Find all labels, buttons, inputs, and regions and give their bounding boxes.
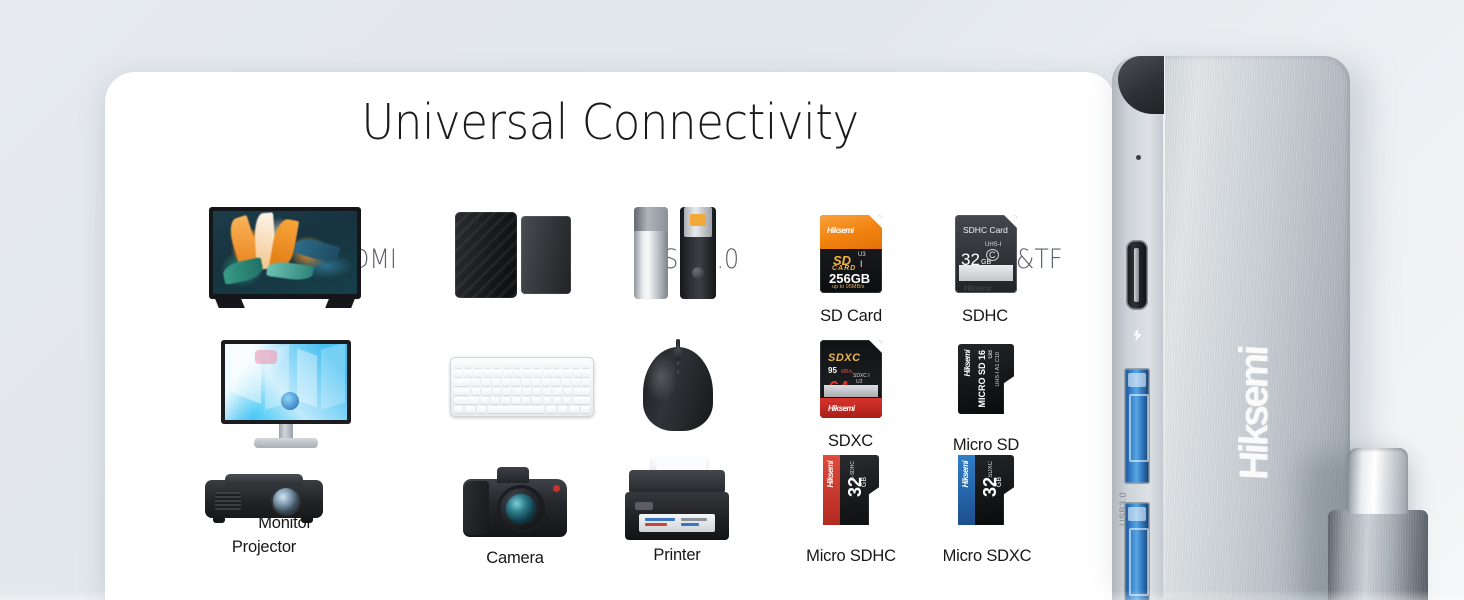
micro-sd-icon: Hiksemi MICRO SD 16 GB UHS-I A1 C10 bbox=[958, 344, 1014, 414]
hub-brand-logo: Hiksemi bbox=[1232, 345, 1277, 484]
sdxc-type: SDXC bbox=[828, 352, 861, 364]
micro-sdhc-sub: I-SDHC bbox=[850, 461, 856, 478]
plug-housing bbox=[1328, 510, 1428, 600]
led-indicator-icon bbox=[1136, 155, 1141, 160]
micro-sd-line: MICRO SD 16 bbox=[977, 350, 987, 408]
caption-projector: Projector bbox=[184, 538, 344, 557]
sd-card-icon: Hiksemi SD CARD U3 I 256GB up to 95MB/s bbox=[820, 215, 882, 293]
micro-sdxc-sub: SDXC bbox=[988, 461, 994, 478]
projector-icon bbox=[205, 472, 323, 526]
sdxc-speed: 95 bbox=[828, 366, 837, 375]
usb3-port-2 bbox=[1124, 502, 1150, 600]
caption-micro-sdhc: Micro SDHC bbox=[790, 547, 912, 566]
mouse-icon bbox=[643, 339, 713, 431]
micro-sd-sub: UHS-I A1 C10 bbox=[995, 352, 1001, 387]
micro-sd-brand: Hiksemi bbox=[963, 350, 972, 376]
hdtv-icon bbox=[209, 207, 361, 299]
camera-icon bbox=[463, 465, 567, 539]
sdxc-card-icon: SDXC 95 MB/s SDXC I U3 64 GB Hiksemi bbox=[820, 340, 882, 418]
page-title: Universal Connectivity bbox=[145, 94, 1074, 151]
hub-edge-highlight bbox=[1163, 56, 1165, 600]
caption-micro-sd: Micro SD bbox=[932, 436, 1040, 455]
micro-sdhc-brand: Hiksemi bbox=[826, 461, 835, 487]
micro-sdhc-icon: Hiksemi 32 GB I-SDHC bbox=[823, 455, 879, 525]
usb-c-connector-tip-icon bbox=[1348, 448, 1408, 514]
hdmi-port bbox=[1126, 240, 1148, 310]
caption-micro-sdxc: Micro SDXC bbox=[928, 547, 1046, 566]
micro-sdxc-unit: GB bbox=[996, 477, 1003, 487]
micro-sdxc-brand: Hiksemi bbox=[961, 461, 970, 487]
printer-icon bbox=[625, 454, 729, 540]
micro-sdhc-unit: GB bbox=[861, 477, 868, 487]
caption-camera: Camera bbox=[463, 549, 567, 568]
content-panel: Universal Connectivity HDMI USB 3.0 SD&T… bbox=[105, 72, 1115, 600]
sdxc-speed-unit: MB/s bbox=[841, 369, 852, 375]
caption-sd-card: SD Card bbox=[791, 307, 911, 326]
sdhc-card-icon: SDHC Card UHS-I C 32 GB Hiksemi bbox=[955, 215, 1017, 293]
usb-c-hub-product: USB3.0 USB3.0 Hiksemi bbox=[1104, 48, 1464, 600]
usb-c-plug bbox=[1310, 448, 1460, 600]
sd-card-speed-class: U3 bbox=[858, 252, 866, 258]
caption-sdxc: SDXC bbox=[798, 432, 903, 451]
usb3-port-1 bbox=[1124, 368, 1150, 484]
keyboard-icon bbox=[450, 357, 594, 417]
sd-card-bus: I bbox=[860, 259, 863, 269]
micro-sd-unit: GB bbox=[988, 350, 994, 359]
sdhc-bus: UHS-I bbox=[985, 242, 1001, 248]
sd-card-speed: up to 95MB/s bbox=[832, 284, 864, 290]
sd-card-brand: Hiksemi bbox=[827, 226, 853, 235]
sdhc-brand: Hiksemi bbox=[964, 284, 990, 293]
monitor-icon bbox=[221, 340, 351, 424]
u-disk-icon bbox=[632, 207, 728, 299]
caption-sdhc: SDHC bbox=[935, 307, 1035, 326]
sdxc-brand: Hiksemi bbox=[828, 404, 854, 413]
hard-drive-icon bbox=[455, 212, 577, 298]
caption-printer: Printer bbox=[625, 546, 729, 565]
sdhc-title: SDHC Card bbox=[963, 225, 1008, 235]
micro-sdxc-icon: Hiksemi 32 GB SDXC bbox=[958, 455, 1014, 525]
